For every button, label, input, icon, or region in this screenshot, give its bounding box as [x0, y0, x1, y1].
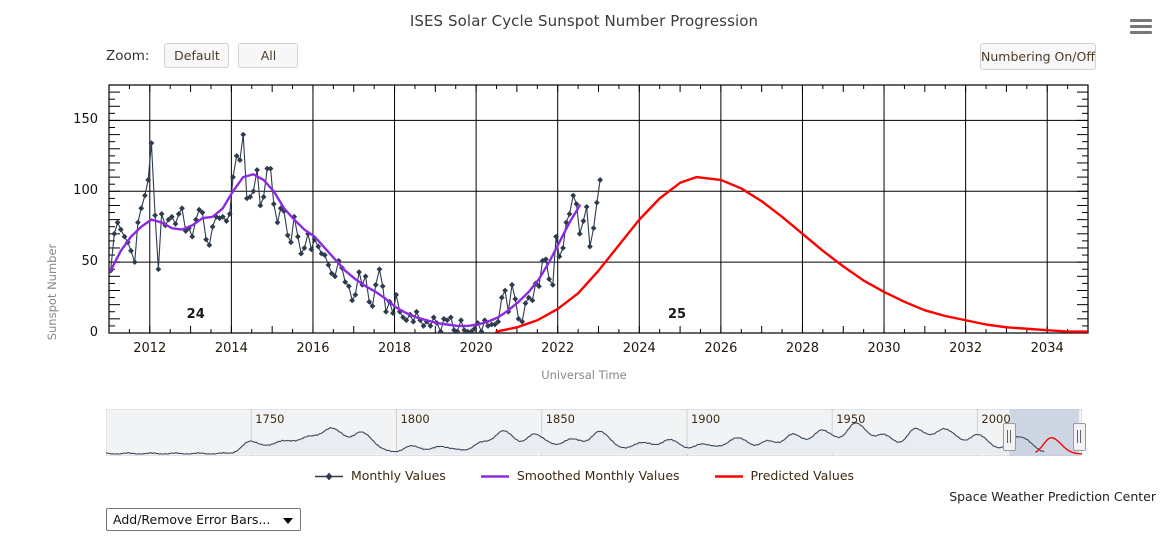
x-tick-label: 2024	[609, 341, 669, 356]
legend-label: Smoothed Monthly Values	[517, 468, 680, 483]
y-tick-label: 50	[62, 254, 98, 269]
x-tick-label: 2028	[772, 341, 832, 356]
x-tick-label: 2034	[1017, 341, 1077, 356]
zoom-all-button[interactable]: All	[238, 43, 298, 68]
legend-swatch-icon	[314, 470, 344, 481]
legend-swatch-icon	[480, 470, 510, 481]
error-bars-select[interactable]: Add/Remove Error Bars...	[106, 508, 301, 531]
page-title: ISES Solar Cycle Sunspot Number Progress…	[0, 12, 1168, 30]
navigator-year-label: 1850	[546, 412, 575, 426]
navigator-year-label: 1950	[836, 412, 865, 426]
cycle-number-24: 24	[187, 307, 205, 322]
hamburger-menu-icon[interactable]	[1130, 19, 1152, 35]
x-tick-label: 2016	[283, 341, 343, 356]
legend-label: Predicted Values	[751, 468, 855, 483]
range-navigator[interactable]: 175018001850190019502000	[106, 409, 1082, 456]
y-axis-label: Sunspot Number	[45, 232, 59, 352]
plot-area[interactable]: Sunspot Number Universal Time 050100150 …	[0, 80, 1168, 390]
x-tick-label: 2032	[936, 341, 996, 356]
legend-label: Monthly Values	[351, 468, 446, 483]
zoom-toolbar: Zoom: Default All	[106, 43, 298, 68]
cycle-number-25: 25	[668, 307, 686, 322]
legend-item-smoothed-monthly-values[interactable]: Smoothed Monthly Values	[480, 468, 680, 483]
x-tick-label: 2012	[120, 341, 180, 356]
chart-legend: Monthly ValuesSmoothed Monthly ValuesPre…	[0, 468, 1168, 483]
navigator-handle-left[interactable]	[1003, 423, 1016, 451]
credit-text: Space Weather Prediction Center	[949, 489, 1156, 504]
x-tick-label: 2014	[201, 341, 261, 356]
x-tick-label: 2020	[446, 341, 506, 356]
y-tick-label: 0	[62, 325, 98, 340]
navigator-year-label: 1750	[255, 412, 284, 426]
navigator-handle-right[interactable]	[1073, 423, 1086, 451]
legend-item-predicted-values[interactable]: Predicted Values	[714, 468, 855, 483]
chevron-down-icon	[283, 518, 293, 524]
zoom-label: Zoom:	[106, 48, 149, 64]
navigator-year-label: 1900	[691, 412, 720, 426]
legend-swatch-icon	[714, 470, 744, 481]
x-tick-label: 2026	[691, 341, 751, 356]
y-tick-label: 100	[62, 183, 98, 198]
numbering-toggle-button[interactable]: Numbering On/Off	[980, 43, 1096, 70]
x-tick-label: 2018	[365, 341, 425, 356]
x-tick-label: 2022	[528, 341, 588, 356]
chart-page: ISES Solar Cycle Sunspot Number Progress…	[0, 0, 1168, 536]
x-axis-label: Universal Time	[0, 368, 1168, 382]
error-bars-select-label: Add/Remove Error Bars...	[113, 512, 270, 527]
hamburger-bar	[1130, 19, 1152, 22]
zoom-default-button[interactable]: Default	[164, 43, 229, 68]
hamburger-bar	[1130, 25, 1152, 28]
hamburger-bar	[1130, 31, 1152, 34]
legend-item-monthly-values[interactable]: Monthly Values	[314, 468, 446, 483]
navigator-year-label: 1800	[400, 412, 429, 426]
x-tick-label: 2030	[854, 341, 914, 356]
navigator-svg[interactable]	[106, 409, 1082, 456]
y-tick-label: 150	[62, 112, 98, 127]
